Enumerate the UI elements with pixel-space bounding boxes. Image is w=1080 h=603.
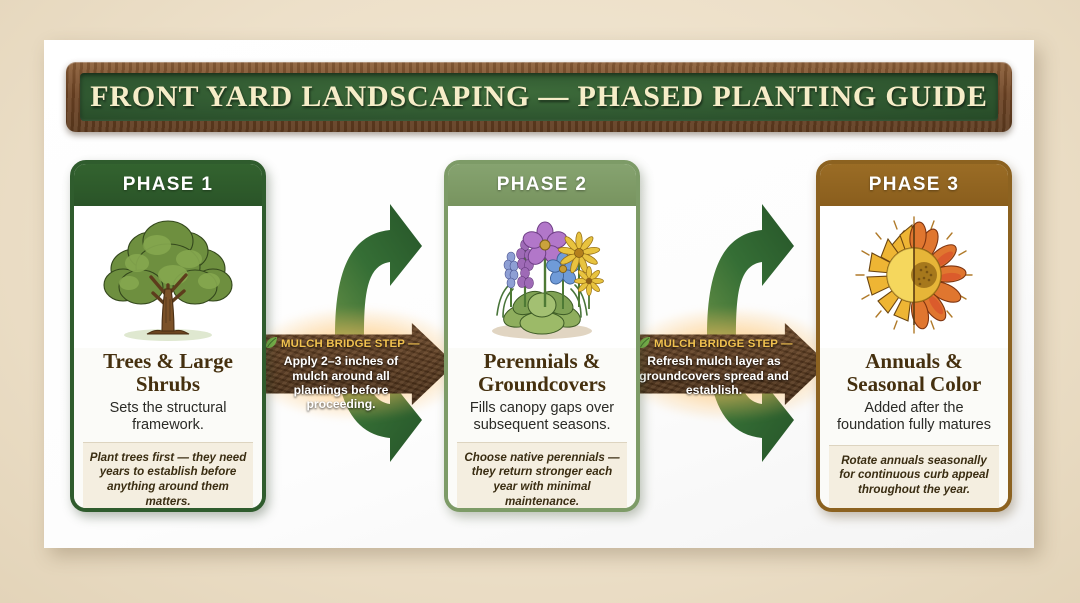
bridge-heading-text: MULCH BRIDGE STEP — (281, 338, 420, 350)
bridge-text-block: MULCH BRIDGE STEP — Apply 2–3 inches of … (265, 336, 417, 411)
bridge-heading: MULCH BRIDGE STEP — (638, 336, 790, 353)
phase-3-note: Rotate annuals seasonally for continuous… (833, 454, 995, 498)
phase-1-note-section: Plant trees first — they need years to e… (83, 442, 253, 512)
title-banner-panel: FRONT YARD LANDSCAPING — PHASED PLANTING… (80, 73, 998, 121)
bridge-body-text: Apply 2–3 inches of mulch around all pla… (265, 354, 417, 411)
bridge-text-block: MULCH BRIDGE STEP — Refresh mulch layer … (638, 336, 790, 397)
phase-1-note: Plant trees first — they need years to e… (87, 451, 249, 510)
infographic-board: FRONT YARD LANDSCAPING — PHASED PLANTING… (44, 40, 1034, 548)
bridge-heading: MULCH BRIDGE STEP — (265, 336, 417, 353)
phase-3-illustration (820, 206, 1008, 348)
phase-2-illustration (448, 206, 636, 348)
phase-3-title: Annuals & Seasonal Color (829, 350, 999, 395)
phase-3-note-section: Rotate annuals seasonally for continuous… (829, 445, 999, 508)
phase-3-subtitle: Added after the foundation fully matures (829, 400, 999, 434)
phase-2-body: Perennials & Groundcovers Fills canopy g… (448, 348, 636, 512)
sun-sunflower-icon (844, 211, 984, 343)
phase-1-title: Trees & Large Shrubs (83, 350, 253, 395)
phase-3-header: PHASE 3 (820, 164, 1008, 206)
bridge-heading-text: MULCH BRIDGE STEP — (654, 338, 793, 350)
phase-card-2[interactable]: PHASE 2 (444, 160, 640, 512)
mulch-bridge-step-2: MULCH BRIDGE STEP — Refresh mulch layer … (632, 323, 828, 405)
phase-2-subtitle: Fills canopy gaps over subsequent season… (457, 400, 627, 434)
phase-2-note-section: Choose native perennials — they return s… (457, 442, 627, 512)
bridge-body-text: Refresh mulch layer as groundcovers spre… (638, 354, 790, 397)
title-banner-frame: FRONT YARD LANDSCAPING — PHASED PLANTING… (66, 62, 1012, 132)
leaf-icon (265, 336, 278, 353)
phase-2-note: Choose native perennials — they return s… (461, 451, 623, 510)
phase-1-header: PHASE 1 (74, 164, 262, 206)
phase-3-body: Annuals & Seasonal Color Added after the… (820, 348, 1008, 508)
mulch-bridge-step-1: MULCH BRIDGE STEP — Apply 2–3 inches of … (259, 323, 455, 405)
perennial-flowers-icon (467, 211, 617, 343)
oak-tree-icon (93, 211, 243, 343)
phase-2-title: Perennials & Groundcovers (457, 350, 627, 395)
phase-1-body: Trees & Large Shrubs Sets the structural… (74, 348, 262, 512)
phase-1-illustration (74, 206, 262, 348)
phase-2-header: PHASE 2 (448, 164, 636, 206)
phase-1-subtitle: Sets the structural framework. (83, 400, 253, 434)
page-title: FRONT YARD LANDSCAPING — PHASED PLANTING… (90, 80, 987, 114)
phase-card-1[interactable]: PHASE 1 (70, 160, 266, 512)
phase-card-3[interactable]: PHASE 3 (816, 160, 1012, 512)
